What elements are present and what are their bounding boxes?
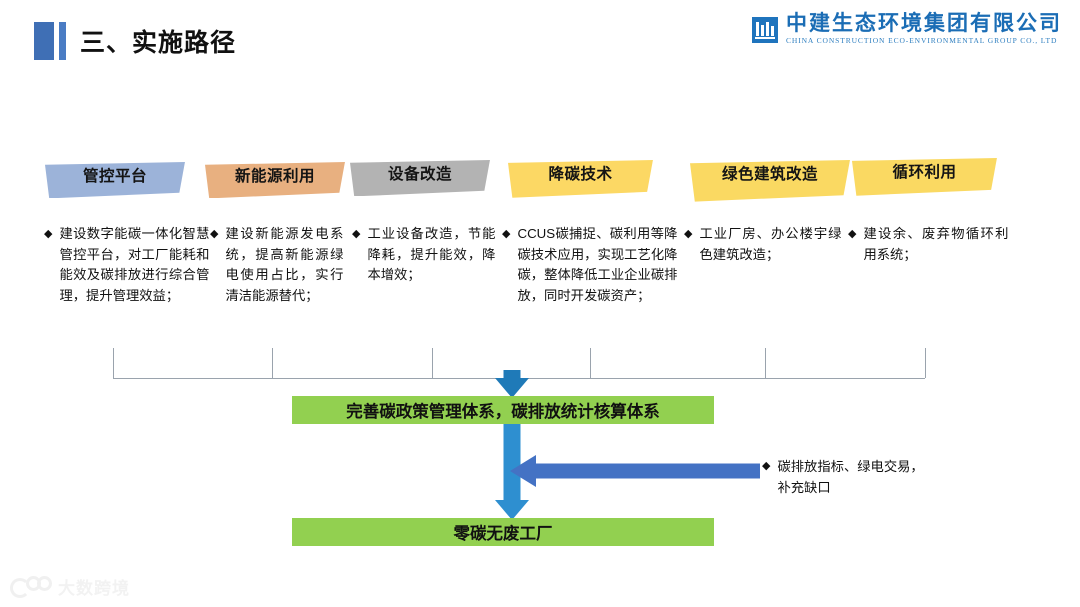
- arrow-head: [495, 500, 529, 520]
- ribbon-label: 降碳技术: [542, 162, 618, 184]
- connector-tick-5: [765, 348, 766, 378]
- connector-tick-1: [113, 348, 114, 378]
- bullet-diamond-icon: ◆: [502, 224, 510, 244]
- bullet-column-2: ◆建设新能源发电系统，提高新能源绿电使用占比，实行清洁能源替代；: [210, 224, 343, 306]
- connector-tick-2: [272, 348, 273, 378]
- arrow-offset-inflow: [510, 455, 760, 487]
- connector-tick-3: [432, 348, 433, 378]
- ribbon-header-5: 绿色建筑改造: [690, 160, 850, 186]
- ribbon-label: 绿色建筑改造: [716, 162, 824, 184]
- title-accent-bar-large: [34, 22, 54, 60]
- bullet-diamond-icon: ◆: [44, 224, 52, 244]
- arrow-to-policy-bar: [495, 370, 529, 398]
- bullet-column-text: CCUS碳捕捉、碳利用等降碳技术应用，实现工艺化降碳，整体降低工业企业碳排放，同…: [517, 224, 677, 306]
- bullet-diamond-icon: ◆: [352, 224, 360, 244]
- ribbon-label: 新能源利用: [229, 164, 321, 186]
- company-logo: 中建生态环境集团有限公司 CHINA CONSTRUCTION ECO-ENVI…: [752, 12, 1062, 47]
- ribbon-header-1: 管控平台: [45, 162, 185, 188]
- bullet-column-5: ◆工业厂房、办公楼宇绿色建筑改造；: [684, 224, 841, 265]
- bullet-diamond-icon: ◆: [684, 224, 692, 244]
- green-bar-1: 完善碳政策管理体系，碳排放统计核算体系: [292, 396, 714, 424]
- company-logo-mark: [752, 17, 778, 43]
- bullet-column-text: 建设新能源发电系统，提高新能源绿电使用占比，实行清洁能源替代；: [225, 224, 343, 306]
- title-accent-bar-small: [59, 22, 66, 60]
- bullet-column-text: 工业厂房、办公楼宇绿色建筑改造；: [699, 224, 841, 265]
- connector-tick-6: [925, 348, 926, 378]
- arrow-stem: [504, 370, 521, 378]
- connector-tick-4: [590, 348, 591, 378]
- bullet-diamond-icon: ◆: [762, 456, 770, 476]
- company-name-cn: 中建生态环境集团有限公司: [786, 12, 1062, 35]
- bullet-column-text: 建设数字能碳一体化智慧管控平台，对工厂能耗和能效及碳排放进行综合管理，提升管理效…: [59, 224, 209, 306]
- ribbon-label: 循环利用: [886, 160, 962, 182]
- bullet-column-3: ◆工业设备改造，节能降耗，提升能效，降本增效；: [352, 224, 495, 286]
- slide-canvas: 三、实施路径 中建生态环境集团有限公司 CHINA CONSTRUCTION E…: [0, 0, 1080, 607]
- ribbon-header-4: 降碳技术: [508, 160, 653, 186]
- watermark-text: 大数跨境: [58, 574, 130, 599]
- company-name-en: CHINA CONSTRUCTION ECO-ENVIRONMENTAL GRO…: [786, 35, 1062, 47]
- bullet-column-6: ◆建设余、废弃物循环利用系统；: [848, 224, 1008, 265]
- offset-note: ◆ 碳排放指标、绿电交易， 补充缺口: [762, 456, 924, 498]
- green-bar-label: 完善碳政策管理体系，碳排放统计核算体系: [346, 398, 660, 422]
- company-logo-text: 中建生态环境集团有限公司 CHINA CONSTRUCTION ECO-ENVI…: [786, 12, 1062, 47]
- bullet-column-4: ◆CCUS碳捕捉、碳利用等降碳技术应用，实现工艺化降碳，整体降低工业企业碳排放，…: [502, 224, 677, 306]
- page-title: 三、实施路径: [80, 28, 236, 58]
- arrow-stem: [536, 464, 760, 479]
- ribbon-label: 管控平台: [77, 164, 153, 186]
- bullet-column-text: 建设余、废弃物循环利用系统；: [863, 224, 1008, 265]
- bullet-column-text: 工业设备改造，节能降耗，提升能效，降本增效；: [367, 224, 495, 286]
- offset-note-text: 碳排放指标、绿电交易， 补充缺口: [777, 456, 923, 498]
- ribbon-label: 设备改造: [382, 162, 458, 184]
- ribbon-header-2: 新能源利用: [205, 162, 345, 188]
- watermark: 大数跨境: [10, 574, 130, 599]
- green-bar-label: 零碳无废工厂: [454, 520, 553, 544]
- green-bar-2: 零碳无废工厂: [292, 518, 714, 546]
- ribbon-header-6: 循环利用: [852, 158, 997, 184]
- watermark-logo-icon: [10, 576, 50, 598]
- bullet-column-1: ◆建设数字能碳一体化智慧管控平台，对工厂能耗和能效及碳排放进行综合管理，提升管理…: [44, 224, 209, 306]
- arrow-head: [510, 455, 536, 487]
- ribbon-header-3: 设备改造: [350, 160, 490, 186]
- arrow-head: [495, 378, 529, 398]
- bullet-diamond-icon: ◆: [848, 224, 856, 244]
- bullet-diamond-icon: ◆: [210, 224, 218, 244]
